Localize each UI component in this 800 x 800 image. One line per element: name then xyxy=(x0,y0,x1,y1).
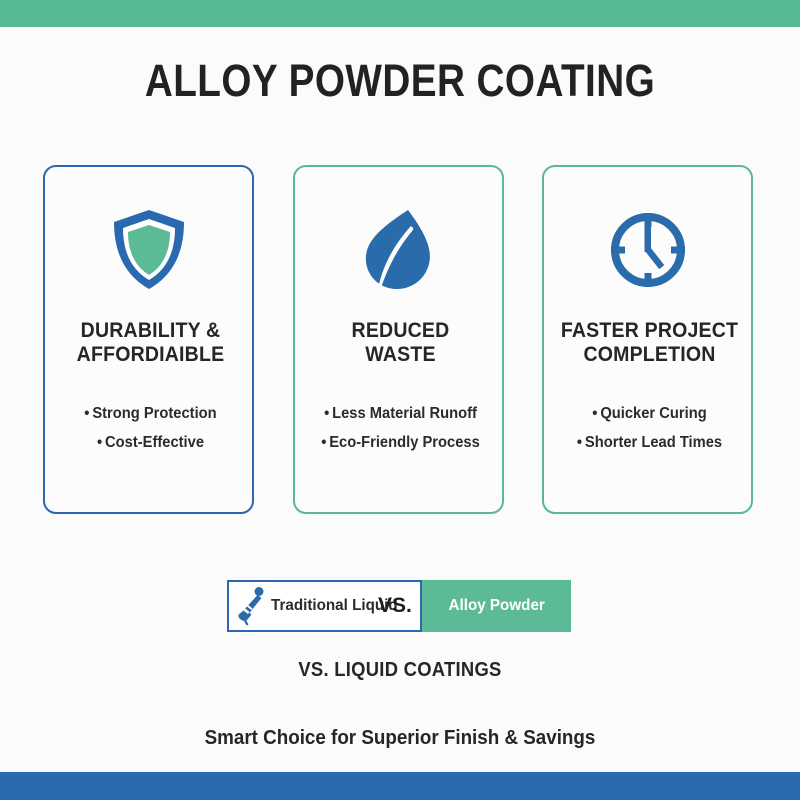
card-title-line-2: WASTE xyxy=(308,343,493,367)
infographic-page: ALLOY POWDER COATING DURABILITY & AFFORD… xyxy=(0,0,800,800)
card-title: DURABILITY & AFFORDIAIBLE xyxy=(58,319,243,367)
card-title-line-1: DURABILITY & xyxy=(58,319,243,343)
comparison-subline: VS. LIQUID COATINGS xyxy=(32,659,768,682)
paintbrush-icon xyxy=(235,586,269,626)
shield-icon xyxy=(45,205,252,295)
card-bullets: •Strong Protection •Cost-Effective xyxy=(53,399,248,457)
comparison-bar: Traditional Liquid VS. Alloy Powder xyxy=(227,580,571,632)
list-item: •Eco-Friendly Process xyxy=(308,428,493,457)
bullet-text: Cost-Effective xyxy=(105,434,204,451)
leaf-icon xyxy=(295,205,502,295)
bullet-text: Less Material Runoff xyxy=(332,405,477,422)
card-title-line-2: AFFORDIAIBLE xyxy=(58,343,243,367)
top-accent-bar xyxy=(0,0,800,27)
card-title: FASTER PROJECT COMPLETION xyxy=(557,319,742,367)
bullet-marker: • xyxy=(321,434,326,451)
bullet-marker: • xyxy=(324,405,329,422)
list-item: •Strong Protection xyxy=(58,399,243,428)
bullet-marker: • xyxy=(592,405,597,422)
bullet-marker: • xyxy=(97,434,102,451)
bullet-text: Quicker Curing xyxy=(600,405,706,422)
card-title-line-1: FASTER PROJECT xyxy=(557,319,742,343)
bullet-text: Shorter Lead Times xyxy=(585,434,722,451)
page-title: ALLOY POWDER COATING xyxy=(56,55,744,107)
card-bullets: •Quicker Curing •Shorter Lead Times xyxy=(552,399,747,457)
clock-icon xyxy=(544,205,751,295)
bottom-accent-bar xyxy=(0,772,800,800)
list-item: •Cost-Effective xyxy=(58,428,243,457)
feature-card-reduced-waste[interactable]: REDUCED WASTE •Less Material Runoff •Eco… xyxy=(293,165,504,514)
bullet-marker: • xyxy=(577,434,582,451)
card-title-line-2: COMPLETION xyxy=(557,343,742,367)
list-item: •Less Material Runoff xyxy=(308,399,493,428)
vs-label: VS. xyxy=(378,580,412,632)
feature-card-durability[interactable]: DURABILITY & AFFORDIAIBLE •Strong Protec… xyxy=(43,165,254,514)
list-item: •Quicker Curing xyxy=(557,399,742,428)
bullet-text: Eco-Friendly Process xyxy=(329,434,480,451)
feature-card-faster-completion[interactable]: FASTER PROJECT COMPLETION •Quicker Curin… xyxy=(542,165,753,514)
list-item: •Shorter Lead Times xyxy=(557,428,742,457)
bullet-marker: • xyxy=(84,405,89,422)
card-title: REDUCED WASTE xyxy=(308,319,493,367)
card-bullets: •Less Material Runoff •Eco-Friendly Proc… xyxy=(303,399,498,457)
tagline: Smart Choice for Superior Finish & Savin… xyxy=(24,727,776,750)
alloy-powder-label: Alloy Powder xyxy=(448,597,544,615)
card-title-line-1: REDUCED xyxy=(308,319,493,343)
comparison-alloy-powder[interactable]: Alloy Powder xyxy=(422,580,571,632)
feature-cards: DURABILITY & AFFORDIAIBLE •Strong Protec… xyxy=(43,165,757,518)
bullet-text: Strong Protection xyxy=(92,405,216,422)
